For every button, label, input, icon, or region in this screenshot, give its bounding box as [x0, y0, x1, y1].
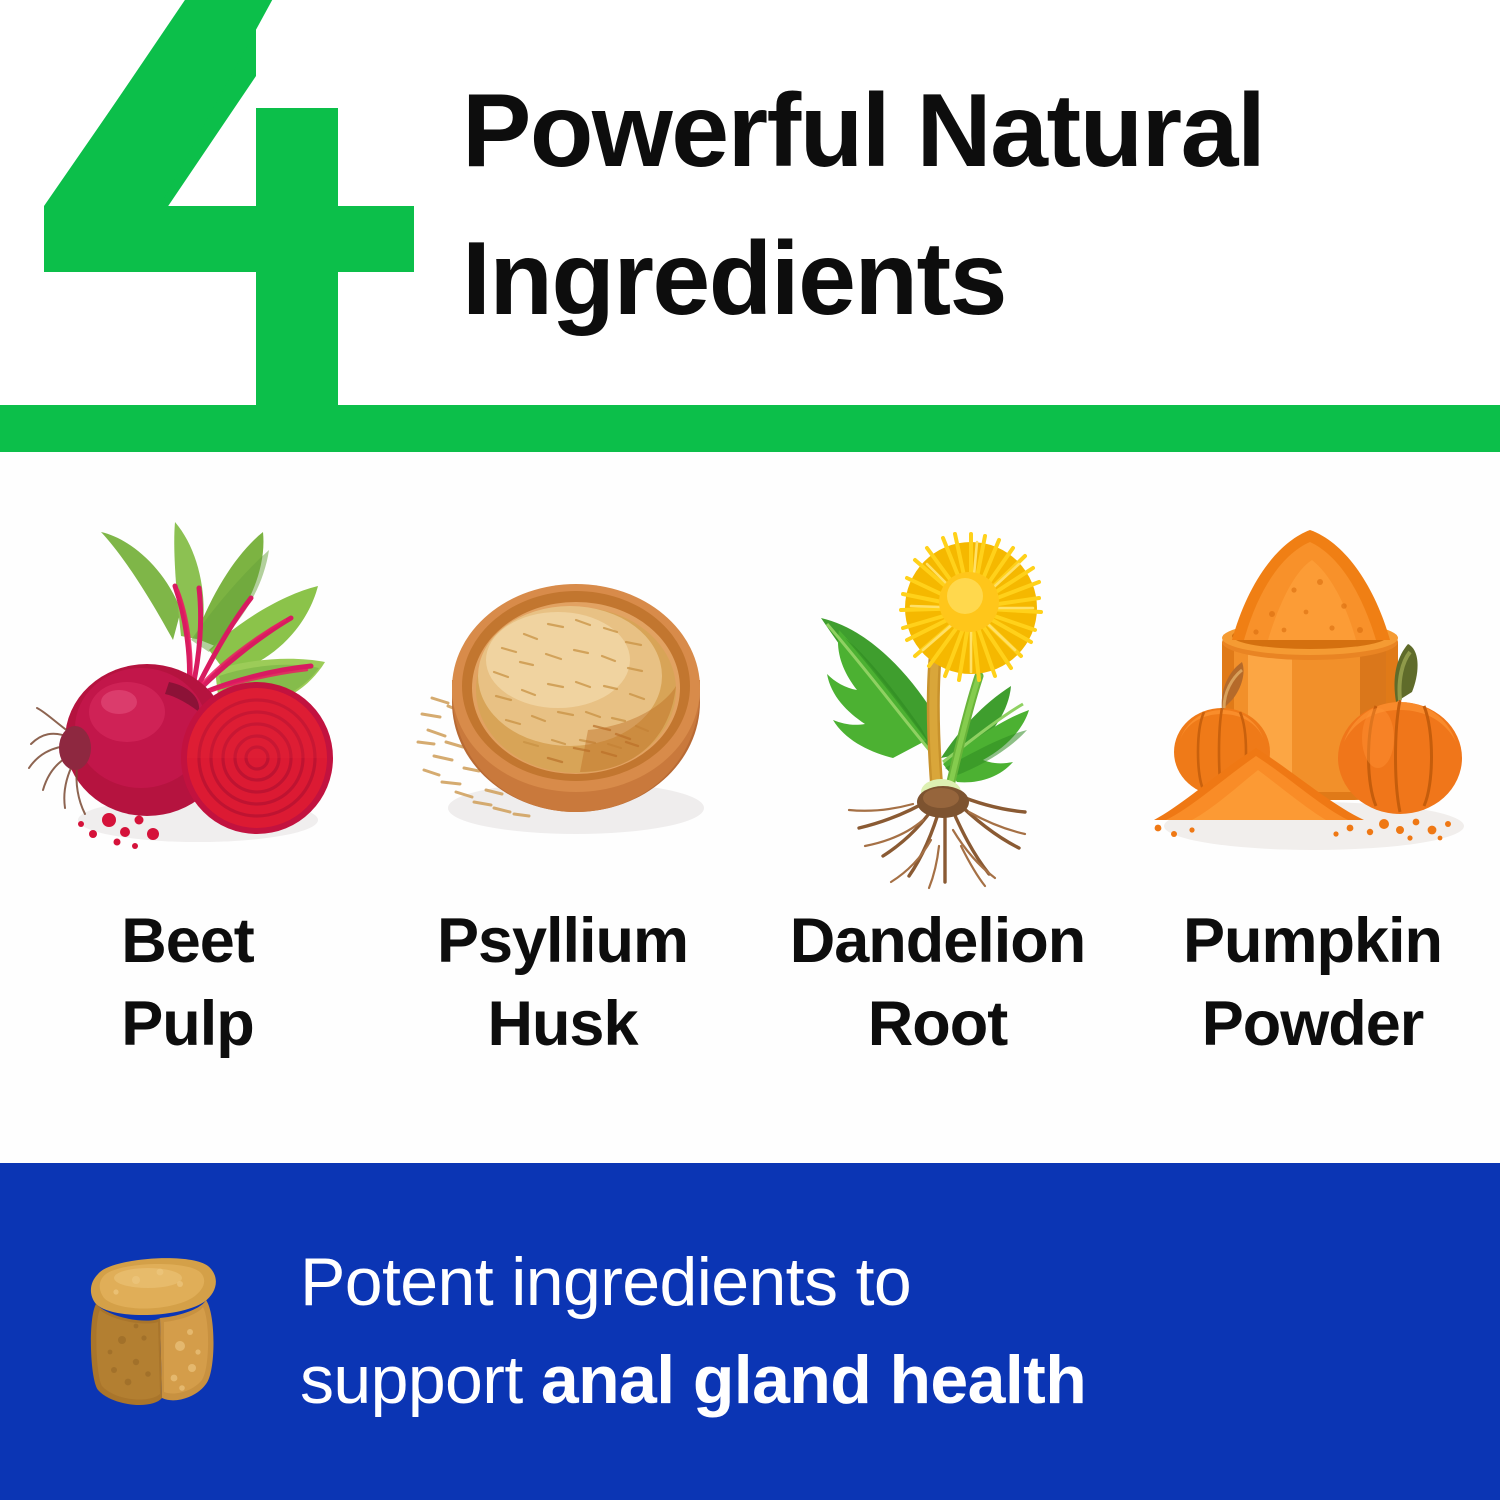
- ingredient-item-psyllium-husk: Psyllium Husk: [375, 452, 750, 1163]
- claim-text: Potent ingredients to support anal gland…: [300, 1234, 1500, 1428]
- label-line-2: Pulp: [121, 983, 254, 1066]
- headline-line-2: Ingredients: [462, 206, 1472, 354]
- pumpkin-powder-image: [1148, 490, 1478, 890]
- dandelion-root-image: [773, 490, 1103, 890]
- label-line-2: Powder: [1183, 983, 1442, 1066]
- label-line-1: Psyllium: [437, 900, 688, 983]
- ingredient-item-beet-pulp: Beet Pulp: [0, 452, 375, 1163]
- claim-line-1: Potent ingredients to: [300, 1234, 1460, 1331]
- ingredient-label-pumpkin-powder: Pumpkin Powder: [1183, 900, 1442, 1066]
- headline-line-1: Powerful Natural: [462, 58, 1472, 206]
- ingredient-label-beet-pulp: Beet Pulp: [121, 900, 254, 1066]
- psyllium-husk-image: [398, 490, 728, 890]
- claim-banner: Potent ingredients to support anal gland…: [0, 1163, 1500, 1500]
- ingredient-label-psyllium-husk: Psyllium Husk: [437, 900, 688, 1066]
- label-line-1: Beet: [121, 900, 254, 983]
- claim-line-2-bold: anal gland health: [541, 1342, 1086, 1418]
- soft-chew-image: [0, 1222, 300, 1442]
- claim-line-2: support anal gland health: [300, 1332, 1460, 1429]
- ingredient-item-dandelion-root: Dandelion Root: [750, 452, 1125, 1163]
- ingredient-grid: Beet Pulp: [0, 452, 1500, 1163]
- ingredient-infographic: Powerful Natural Ingredients: [0, 0, 1500, 1500]
- header-section: Powerful Natural Ingredients: [0, 0, 1500, 452]
- beet-pulp-image: [23, 490, 353, 890]
- label-line-2: Husk: [437, 983, 688, 1066]
- ingredient-label-dandelion-root: Dandelion Root: [790, 900, 1086, 1066]
- label-line-1: Dandelion: [790, 900, 1086, 983]
- label-line-1: Pumpkin: [1183, 900, 1442, 983]
- ingredient-item-pumpkin-powder: Pumpkin Powder: [1125, 452, 1500, 1163]
- green-divider-bar: [0, 405, 1500, 452]
- page-title: Powerful Natural Ingredients: [462, 58, 1472, 353]
- claim-line-2-normal: support: [300, 1342, 541, 1418]
- number-four-graphic: [44, 0, 414, 412]
- label-line-2: Root: [790, 983, 1086, 1066]
